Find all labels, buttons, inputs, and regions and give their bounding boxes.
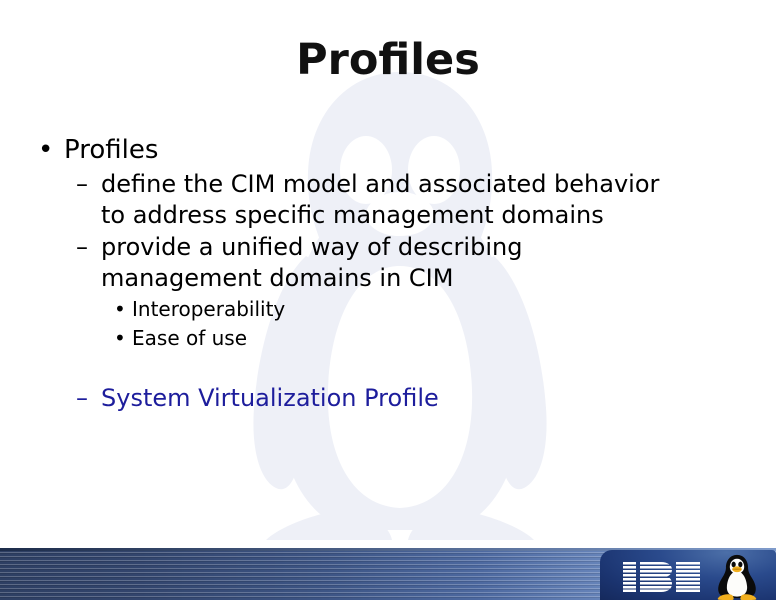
ibm-logo-icon — [622, 562, 700, 592]
outline-item-level2: – provide a unified way of describing ma… — [0, 232, 730, 294]
outline-item-level2-highlighted[interactable]: – System Virtualization Profile — [0, 383, 730, 414]
tux-logo-icon — [712, 552, 762, 600]
outline-item-text: provide a unified way of describing mana… — [101, 232, 686, 294]
bullet-dot-icon: • — [114, 324, 132, 353]
outline-item-text: Profiles — [64, 133, 158, 167]
bullet-dot-icon: • — [114, 295, 132, 324]
outline-blank-line — [0, 353, 730, 383]
bullet-dash-icon: – — [76, 232, 101, 263]
outline-item-level3: • Ease of use — [0, 324, 730, 353]
slide-footer — [0, 538, 776, 600]
slide-body: • Profiles – define the CIM model and as… — [0, 133, 730, 415]
outline-item-text: define the CIM model and associated beha… — [101, 169, 686, 231]
outline-item-text: Ease of use — [132, 324, 247, 353]
footer-logo-box — [600, 550, 776, 600]
outline-item-level2: – define the CIM model and associated be… — [0, 169, 730, 231]
slide: Profiles • Profiles – define the CIM mod… — [0, 0, 776, 600]
bullet-dash-icon: – — [76, 383, 101, 414]
outline-item-text: Interoperability — [132, 295, 285, 324]
bullet-dot-icon: • — [38, 133, 64, 167]
outline-item-level3: • Interoperability — [0, 295, 730, 324]
bullet-dash-icon: – — [76, 169, 101, 200]
outline-item-level1: • Profiles — [0, 133, 730, 167]
outline-item-text[interactable]: System Virtualization Profile — [101, 383, 439, 414]
slide-title: Profiles — [0, 38, 776, 83]
